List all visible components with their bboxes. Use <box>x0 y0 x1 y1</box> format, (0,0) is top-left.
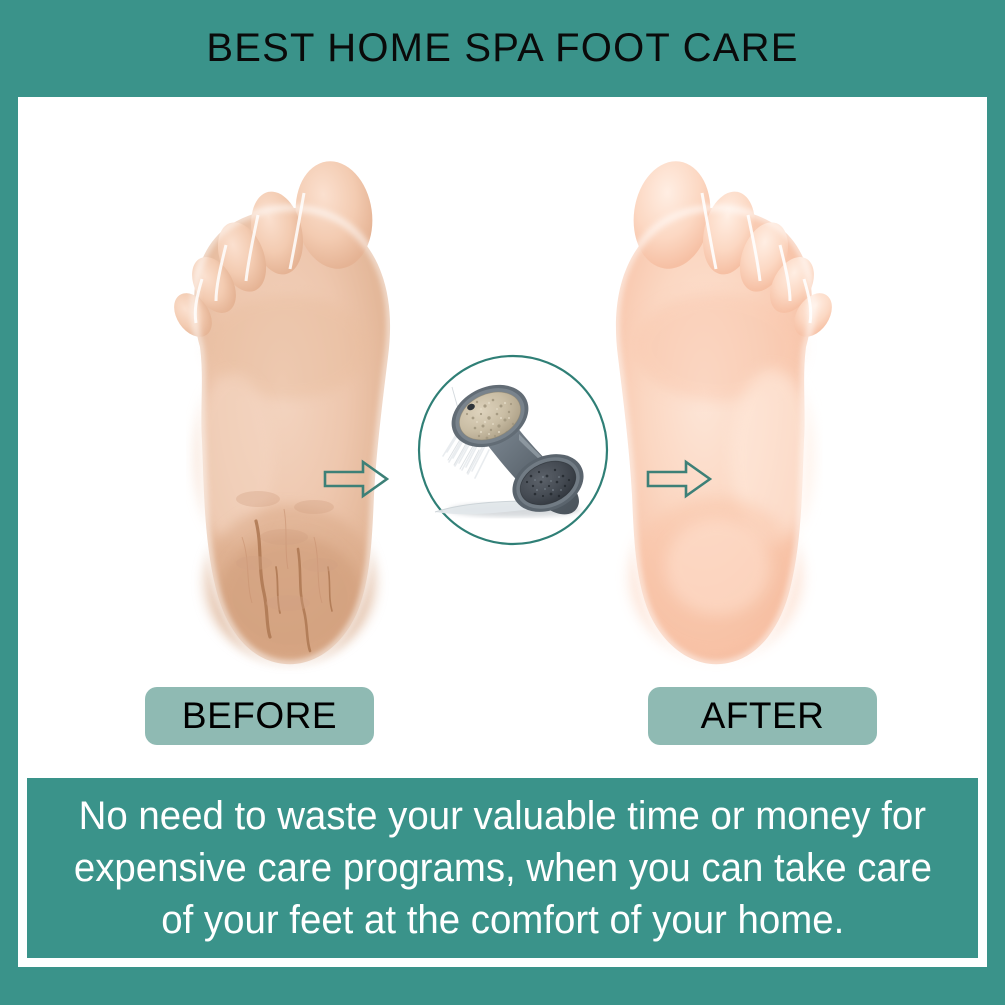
page-title: BEST HOME SPA FOOT CARE <box>206 26 798 71</box>
footer-message-box: No need to waste your valuable time or m… <box>24 775 981 961</box>
footer-line-1: No need to waste your valuable time or m… <box>79 790 926 842</box>
after-label: AFTER <box>648 687 877 745</box>
footer-line-2: expensive care programs, when you can ta… <box>73 842 931 894</box>
comparison-panel: BEFORE AFTER <box>18 97 987 769</box>
after-label-text: AFTER <box>701 695 825 737</box>
before-label: BEFORE <box>145 687 374 745</box>
before-label-text: BEFORE <box>182 695 337 737</box>
product-poster: BEST HOME SPA FOOT CARE <box>0 0 1005 1005</box>
arrow-right <box>646 459 712 499</box>
arrow-left <box>323 459 389 499</box>
product-tool-image <box>415 352 611 548</box>
poster-header: BEST HOME SPA FOOT CARE <box>0 0 1005 97</box>
footer-line-3: of your feet at the comfort of your home… <box>161 894 844 946</box>
footer-frame: No need to waste your valuable time or m… <box>18 769 987 967</box>
